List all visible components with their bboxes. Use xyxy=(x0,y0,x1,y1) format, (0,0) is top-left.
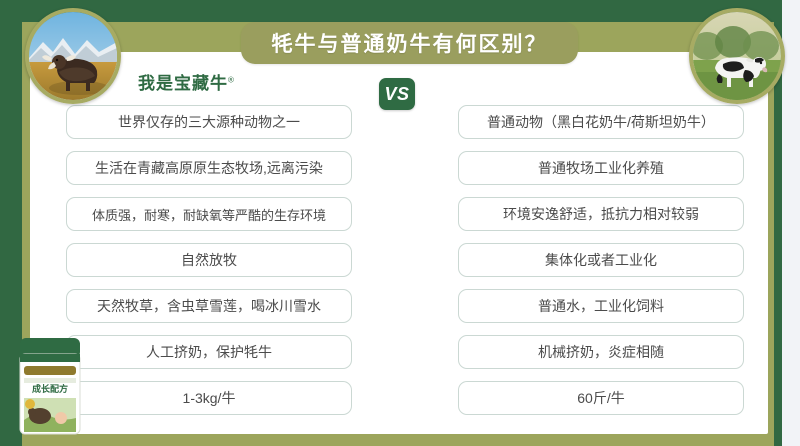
list-item: 60斤/牛 xyxy=(458,381,744,415)
list-item: 1-3kg/牛 xyxy=(66,381,352,415)
list-item: 自然放牧 xyxy=(66,243,352,277)
product-can: 成长配方 xyxy=(14,330,86,440)
list-item: 普通水，工业化饲料 xyxy=(458,289,744,323)
list-item: 集体化或者工业化 xyxy=(458,243,744,277)
poster-canvas: 牦牛与普通奶牛有何区别？ 我是宝藏牛® VS 世界仅存的三大源种动物之一 生活在… xyxy=(0,0,800,446)
brand-logo: 我是宝藏牛® xyxy=(138,69,235,94)
list-item: 生活在青藏高原原生态牧场,远离污染 xyxy=(66,151,352,185)
list-item: 普通动物（黑白花奶牛/荷斯坦奶牛） xyxy=(458,105,744,139)
trademark-symbol: ® xyxy=(228,75,235,84)
yak-photo xyxy=(25,8,121,104)
svg-text:成长配方: 成长配方 xyxy=(32,383,68,394)
page-title: 牦牛与普通奶牛有何区别？ xyxy=(272,28,548,58)
brand-logo-text: 我是宝藏牛 xyxy=(138,74,228,93)
list-item: 世界仅存的三大源种动物之一 xyxy=(66,105,352,139)
list-item: 人工挤奶，保护牦牛 xyxy=(66,335,352,369)
vs-label: VS xyxy=(384,84,409,105)
list-item: 天然牧草，含虫草雪莲，喝冰川雪水 xyxy=(66,289,352,323)
yak-column: 世界仅存的三大源种动物之一 生活在青藏高原原生态牧场,远离污染 体质强，耐寒，耐… xyxy=(66,105,352,427)
list-item: 体质强，耐寒，耐缺氧等严酷的生存环境 xyxy=(66,197,352,231)
title-banner: 牦牛与普通奶牛有何区别？ xyxy=(241,22,578,64)
vs-badge: VS xyxy=(379,78,415,110)
list-item: 环境安逸舒适，抵抗力相对较弱 xyxy=(458,197,744,231)
list-item: 机械挤奶，炎症相随 xyxy=(458,335,744,369)
dairy-cow-column: 普通动物（黑白花奶牛/荷斯坦奶牛） 普通牧场工业化养殖 环境安逸舒适，抵抗力相对… xyxy=(458,105,744,427)
list-item: 普通牧场工业化养殖 xyxy=(458,151,744,185)
dairy-cow-photo xyxy=(689,8,785,104)
